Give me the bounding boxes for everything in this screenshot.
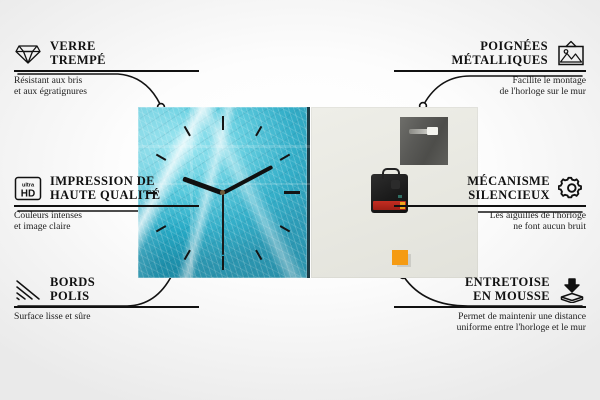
feature-title: MÉCANISME SILENCIEUX [467,175,550,202]
polished-edge-icon [14,278,42,302]
feature-header: ENTRETOISE EN MOUSSE [371,276,586,303]
feature-header: POIGNÉES MÉTALLIQUES [371,40,586,67]
feature-subtitle-line2: et aux égratignures [14,86,229,97]
wall-frame-hook-icon [556,40,586,67]
feature-divider [14,205,199,207]
clock-marker [222,256,224,270]
metal-hanger-plate [400,117,448,165]
feature-divider [394,205,586,207]
clock-marker [222,116,224,130]
feature-subtitle-line1: Les aiguilles de l'horloge [371,210,586,221]
foam-spacer-part [392,250,408,265]
feature-title: BORDS POLIS [50,276,95,303]
feature-subtitle-line1: Facilite le montage [371,75,586,86]
gear-icon [558,175,586,202]
feature-subtitle-line2: ne font aucun bruit [371,221,586,232]
feature-title: POIGNÉES MÉTALLIQUES [451,40,548,67]
feature-divider [14,70,199,72]
svg-text:HD: HD [21,189,35,200]
feature-title: ENTRETOISE EN MOUSSE [465,276,550,303]
feature-title: IMPRESSION DE HAUTE QUALITÉ [50,175,160,202]
feature-verre-trempe: VERRE TREMPÉ Résistant aux bris et aux é… [14,40,229,97]
infographic-page: VERRE TREMPÉ Résistant aux bris et aux é… [0,0,600,400]
feature-subtitle-line2: et image claire [14,221,229,232]
feature-divider [14,306,199,308]
feature-mecanisme-silencieux: MÉCANISME SILENCIEUX Les aiguilles de l'… [371,175,586,232]
feature-subtitle-line1: Couleurs intenses [14,210,229,221]
feature-poignees-metalliques: POIGNÉES MÉTALLIQUES Facilite le montage… [371,40,586,97]
feature-header: VERRE TREMPÉ [14,40,229,67]
feature-header: MÉCANISME SILENCIEUX [371,175,586,202]
feature-subtitle-line1: Surface lisse et sûre [14,311,229,322]
feature-entretoise-en-mousse: ENTRETOISE EN MOUSSE Permet de maintenir… [371,276,586,333]
feature-impression-haute-qualite: ultra HD IMPRESSION DE HAUTE QUALITÉ Cou… [14,175,229,232]
hanger-slot-hole [427,127,438,135]
diamond-icon [14,43,42,65]
feature-title: VERRE TREMPÉ [50,40,106,67]
ultra-hd-icon: ultra HD [14,176,42,201]
feature-subtitle-line1: Résistant aux bris [14,75,229,86]
feature-header: ultra HD IMPRESSION DE HAUTE QUALITÉ [14,175,229,202]
feature-divider [394,306,586,308]
feature-divider [394,70,586,72]
feature-subtitle-line2: uniforme entre l'horloge et le mur [371,322,586,333]
feature-header: BORDS POLIS [14,276,229,303]
feature-bords-polis: BORDS POLIS Surface lisse et sûre [14,276,229,322]
clock-marker [284,191,300,194]
foam-spacer-icon [558,277,586,303]
feature-subtitle-line2: de l'horloge sur le mur [371,86,586,97]
feature-subtitle-line1: Permet de maintenir une distance [371,311,586,322]
